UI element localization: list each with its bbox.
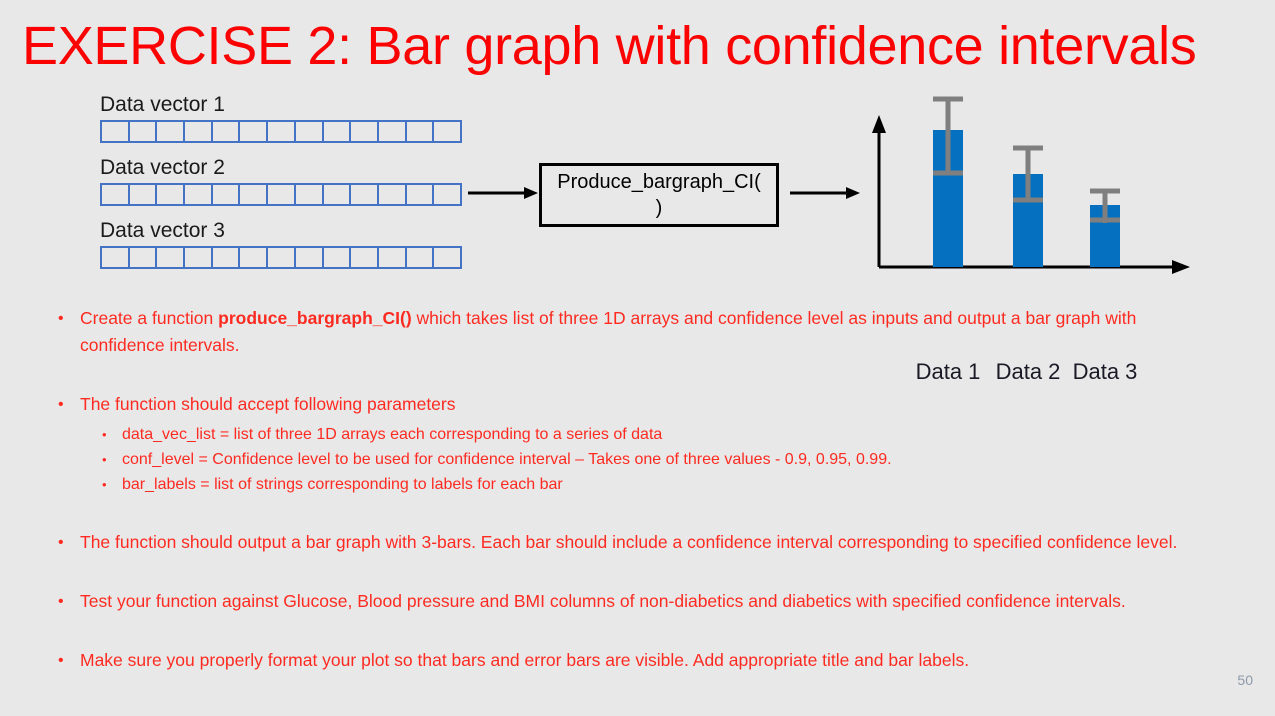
sub-bullet-text: bar_labels = list of strings correspondi… bbox=[122, 472, 1218, 497]
bullet-item-parameters: • The function should accept following p… bbox=[58, 391, 1218, 418]
bullet-item-create-function: • Create a function produce_bargraph_CI(… bbox=[58, 305, 1218, 359]
vector-cell bbox=[351, 185, 379, 204]
sub-bullet-group: • data_vec_list = list of three 1D array… bbox=[58, 422, 1218, 497]
sub-bullet-text: data_vec_list = list of three 1D arrays … bbox=[122, 422, 1218, 447]
bullet-text-bold: produce_bargraph_CI() bbox=[218, 308, 412, 328]
vector-cell bbox=[185, 185, 213, 204]
data-vector-1-cells bbox=[100, 120, 462, 143]
vector-cell bbox=[268, 122, 296, 141]
function-box-line-2: ) bbox=[656, 195, 663, 221]
bullet-text: The function should output a bar graph w… bbox=[80, 529, 1218, 556]
bullet-dot-icon: • bbox=[58, 305, 80, 332]
slide-number: 50 bbox=[1237, 672, 1253, 688]
vector-cell bbox=[379, 185, 407, 204]
bullet-item-format-plot: • Make sure you properly format your plo… bbox=[58, 647, 1218, 674]
vector-cell bbox=[157, 122, 185, 141]
spacer bbox=[58, 574, 1218, 588]
bullet-text: Create a function produce_bargraph_CI() … bbox=[80, 305, 1218, 359]
sub-bullet-item-data-vec-list: • data_vec_list = list of three 1D array… bbox=[102, 422, 1218, 447]
arrow-right-icon-vectors-to-function bbox=[468, 186, 538, 200]
vector-cell bbox=[351, 248, 379, 267]
vector-cell bbox=[268, 248, 296, 267]
bullet-dot-icon: • bbox=[58, 647, 80, 674]
data-vector-2-cells bbox=[100, 183, 462, 206]
data-vector-3-cells bbox=[100, 246, 462, 269]
data-vector-2-label: Data vector 2 bbox=[100, 155, 462, 181]
vector-cell bbox=[185, 122, 213, 141]
data-vector-3-group: Data vector 3 bbox=[100, 218, 462, 269]
sub-bullet-dot-icon: • bbox=[102, 447, 122, 472]
spacer bbox=[58, 633, 1218, 647]
bullet-list: • Create a function produce_bargraph_CI(… bbox=[58, 305, 1218, 674]
vector-cell bbox=[296, 185, 324, 204]
vector-cell bbox=[157, 185, 185, 204]
vector-cell bbox=[240, 122, 268, 141]
function-box-line-1: Produce_bargraph_CI( bbox=[557, 169, 760, 195]
vector-cell bbox=[185, 248, 213, 267]
vector-cell bbox=[130, 122, 158, 141]
sub-bullet-item-bar-labels: • bar_labels = list of strings correspon… bbox=[102, 472, 1218, 497]
data-vector-3-label: Data vector 3 bbox=[100, 218, 462, 244]
data-vector-1-label: Data vector 1 bbox=[100, 92, 462, 118]
vector-cell bbox=[324, 185, 352, 204]
sub-bullet-item-conf-level: • conf_level = Confidence level to be us… bbox=[102, 447, 1218, 472]
vector-cell bbox=[407, 122, 435, 141]
vector-cell bbox=[213, 122, 241, 141]
sub-bullet-dot-icon: • bbox=[102, 472, 122, 497]
bullet-text: Test your function against Glucose, Bloo… bbox=[80, 588, 1218, 615]
vector-cell bbox=[351, 122, 379, 141]
vector-cell bbox=[102, 185, 130, 204]
vector-cell bbox=[434, 122, 460, 141]
vector-cell bbox=[268, 185, 296, 204]
bullet-item-test-function: • Test your function against Glucose, Bl… bbox=[58, 588, 1218, 615]
bar-chart: Data 1 Data 2 Data 3 bbox=[860, 85, 1200, 305]
bar-chart-svg bbox=[860, 85, 1200, 305]
function-box: Produce_bargraph_CI( ) bbox=[539, 163, 779, 227]
spacer bbox=[58, 377, 1218, 391]
arrow-right-icon-function-to-chart bbox=[790, 186, 860, 200]
data-vector-1-group: Data vector 1 bbox=[100, 92, 462, 143]
vector-cell bbox=[379, 122, 407, 141]
data-vector-2-group: Data vector 2 bbox=[100, 155, 462, 206]
vector-cell bbox=[130, 248, 158, 267]
bullet-text: Make sure you properly format your plot … bbox=[80, 647, 1218, 674]
y-axis-arrowhead bbox=[872, 115, 886, 133]
bullet-dot-icon: • bbox=[58, 391, 80, 418]
bullet-text: The function should accept following par… bbox=[80, 391, 1218, 418]
vector-cell bbox=[379, 248, 407, 267]
sub-bullet-dot-icon: • bbox=[102, 422, 122, 447]
x-axis-arrowhead bbox=[1172, 260, 1190, 274]
vector-cell bbox=[407, 248, 435, 267]
bullet-item-output-bargraph: • The function should output a bar graph… bbox=[58, 529, 1218, 556]
vector-cell bbox=[213, 248, 241, 267]
sub-bullet-text: conf_level = Confidence level to be used… bbox=[122, 447, 1218, 472]
vector-cell bbox=[102, 122, 130, 141]
vector-cell bbox=[296, 248, 324, 267]
vector-cell bbox=[130, 185, 158, 204]
bullet-dot-icon: • bbox=[58, 529, 80, 556]
vector-cell bbox=[102, 248, 130, 267]
vector-cell bbox=[157, 248, 185, 267]
vector-cell bbox=[213, 185, 241, 204]
bullet-text-pre: Create a function bbox=[80, 308, 218, 328]
vector-cell bbox=[324, 248, 352, 267]
spacer bbox=[58, 515, 1218, 529]
vector-cell bbox=[240, 248, 268, 267]
vector-cell bbox=[434, 185, 460, 204]
vector-cell bbox=[324, 122, 352, 141]
page-title: EXERCISE 2: Bar graph with confidence in… bbox=[22, 14, 1262, 78]
bullet-dot-icon: • bbox=[58, 588, 80, 615]
vector-cell bbox=[240, 185, 268, 204]
vector-cell bbox=[434, 248, 460, 267]
vector-cell bbox=[296, 122, 324, 141]
vector-cell bbox=[407, 185, 435, 204]
